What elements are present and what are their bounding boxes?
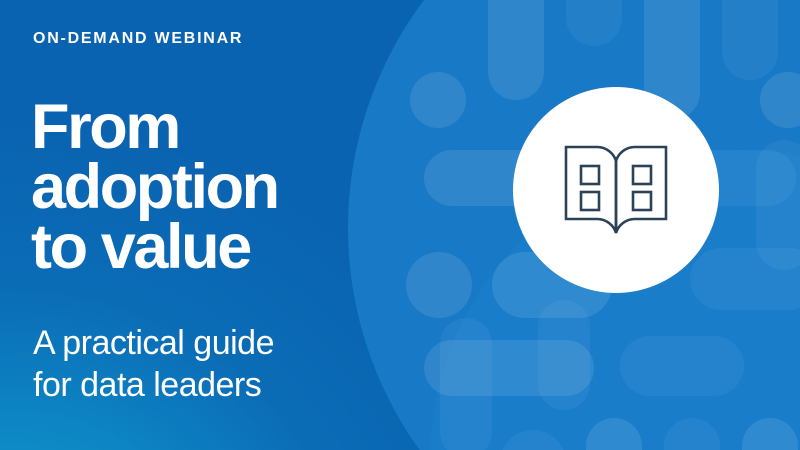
pattern-capsule: [690, 248, 800, 310]
pattern-pill: [722, 0, 778, 80]
pattern-pill: [538, 300, 590, 410]
eyebrow-label: ON-DEMAND WEBINAR: [33, 31, 243, 47]
text-column: ON-DEMAND WEBINAR From adoption to value…: [33, 0, 463, 450]
icon-badge: [513, 87, 719, 293]
page-subtitle: A practical guide for data leaders: [33, 322, 274, 406]
pattern-pill: [488, 0, 544, 100]
pattern-capsule: [620, 336, 744, 396]
pattern-pill: [664, 418, 720, 450]
pattern-circle: [500, 430, 566, 450]
pattern-pill: [566, 0, 622, 46]
page-title: From adoption to value: [31, 97, 278, 277]
webinar-promo-banner: ON-DEMAND WEBINAR From adoption to value…: [0, 0, 800, 450]
pattern-pill: [742, 418, 798, 450]
pattern-pill: [586, 418, 642, 450]
pattern-circle: [760, 72, 800, 128]
open-book-icon: [563, 140, 669, 240]
